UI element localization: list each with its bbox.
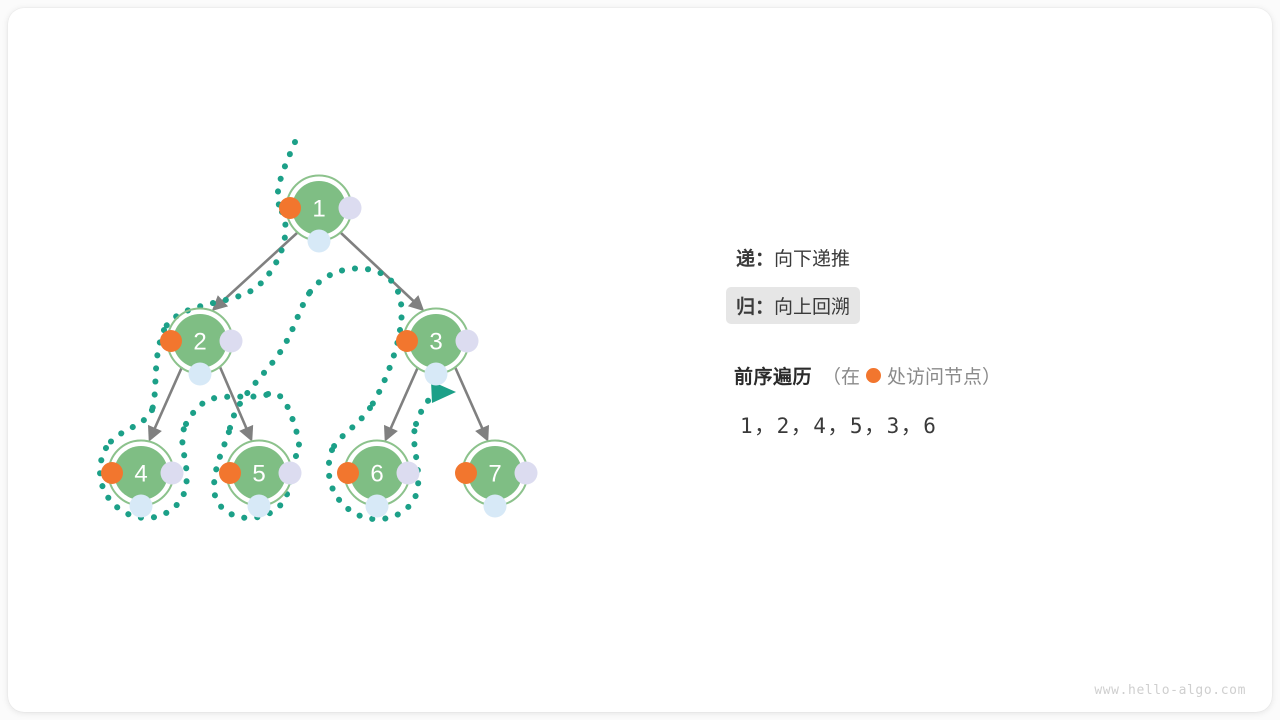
visit-dot-icon (219, 462, 241, 484)
right-dot-icon (515, 462, 538, 485)
legend-return-key: 归： (736, 297, 774, 318)
binary-tree-figure: 1 2 3 4 (0, 0, 1280, 720)
visit-dot-icon (101, 462, 123, 484)
legend-recurse-value: 向下递推 (774, 249, 850, 270)
edge-2-4 (150, 367, 182, 439)
legend-return: 归：向上回溯 (726, 287, 860, 324)
legend-recurse-key: 递： (736, 249, 774, 270)
path-segment-6-back-to-3 (416, 394, 434, 424)
path-segment-root-to-2 (164, 212, 286, 330)
node-label: 6 (370, 461, 383, 488)
bottom-dot-icon (308, 230, 331, 253)
right-dot-icon (339, 197, 362, 220)
bottom-dot-icon (130, 495, 153, 518)
bottom-dot-icon (425, 363, 448, 386)
path-segment-4-back-to-2 (186, 394, 268, 424)
node-label: 3 (429, 329, 442, 356)
legend-recurse: 递：向下递推 (726, 239, 860, 276)
right-dot-icon (456, 330, 479, 353)
visit-dot-icon (455, 462, 477, 484)
bottom-dot-icon (248, 495, 271, 518)
watermark: www.hello-algo.com (1094, 683, 1246, 698)
bottom-dot-icon (366, 495, 389, 518)
tree-node-3[interactable]: 3 (396, 309, 479, 386)
right-dot-icon (397, 462, 420, 485)
path-segment-3-left (370, 330, 400, 408)
right-dot-icon (279, 462, 302, 485)
edge-2-5 (220, 367, 251, 439)
tree-node-5[interactable]: 5 (219, 441, 302, 518)
visit-dot-icon (337, 462, 359, 484)
node-label: 7 (488, 461, 501, 488)
bottom-dot-icon (484, 495, 507, 518)
right-dot-icon (161, 462, 184, 485)
visit-dot-icon (279, 197, 301, 219)
node-label: 2 (193, 329, 206, 356)
bottom-dot-icon (189, 363, 212, 386)
tree-node-7[interactable]: 7 (455, 441, 538, 518)
legend-return-value: 向上回溯 (774, 297, 850, 318)
visit-dot-icon (396, 330, 418, 352)
traversal-paren-close: 处访问节点） (887, 362, 1001, 389)
diagram-canvas: 1 2 3 4 (0, 0, 1280, 720)
traversal-sequence: 1，2，4，5，3，6 (740, 410, 937, 440)
traversal-title-text: 前序遍历 (734, 362, 812, 389)
path-segment-2-to-5 (268, 393, 299, 456)
right-dot-icon (220, 330, 243, 353)
orange-dot-icon (866, 368, 881, 383)
traversal-title: 前序遍历 （在 处访问节点） (734, 362, 1001, 389)
node-label: 1 (312, 196, 325, 223)
visit-dot-icon (160, 330, 182, 352)
traversal-paren-open: （在 (822, 362, 860, 389)
path-segment-5-back-up (230, 292, 310, 428)
tree-node-2[interactable]: 2 (160, 309, 243, 386)
edge-3-7 (455, 367, 487, 439)
tree-node-4[interactable]: 4 (101, 441, 184, 518)
node-label: 4 (134, 461, 147, 488)
node-label: 5 (252, 461, 265, 488)
